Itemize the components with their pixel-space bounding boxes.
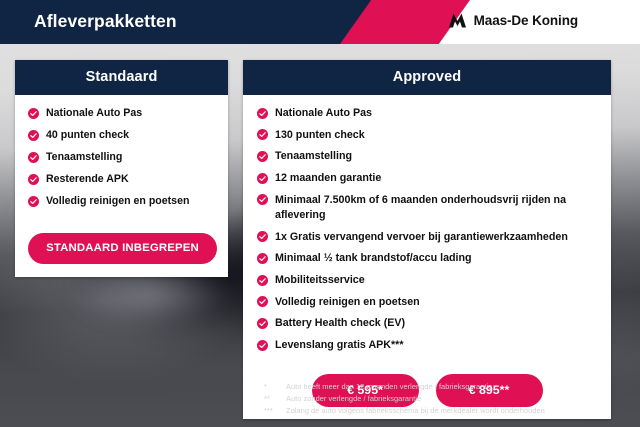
afleverpakketten-page: Afleverpakketten Maas-De Koning Standaar…	[0, 0, 640, 427]
footnotes: *Auto heeft meer dan 12 maanden verlengd…	[264, 381, 624, 417]
feature-label: 12 maanden garantie	[275, 171, 381, 186]
standaard-card-body: Nationale Auto Pas40 punten checkTenaams…	[15, 95, 228, 226]
feature-label: Nationale Auto Pas	[46, 106, 142, 121]
feature-item: 40 punten check	[28, 128, 217, 143]
feature-item: Levenslang gratis APK***	[257, 338, 599, 353]
footnote-text: Zolang de auto volgens fabrieksschema bi…	[286, 405, 624, 417]
standaard-card: Standaard Nationale Auto Pas40 punten ch…	[15, 60, 228, 277]
feature-item: Volledig reinigen en poetsen	[28, 194, 217, 209]
check-circle-icon	[257, 340, 268, 351]
check-circle-icon	[28, 108, 39, 119]
footnote-text: Auto zonder verlengde / fabrieksgarantie	[286, 393, 624, 405]
feature-item: Minimaal ½ tank brandstof/accu lading	[257, 251, 599, 266]
check-circle-icon	[257, 173, 268, 184]
page-title: Afleverpakketten	[34, 11, 177, 32]
feature-item: 12 maanden garantie	[257, 171, 599, 186]
approved-card-body: Nationale Auto Pas130 punten checkTenaam…	[243, 95, 611, 368]
brand-name: Maas-De Koning	[474, 13, 578, 28]
feature-item: Tenaamstelling	[28, 150, 217, 165]
feature-label: Resterende APK	[46, 172, 129, 187]
standaard-card-heading: Standaard	[15, 60, 228, 95]
footnote-text: Auto heeft meer dan 12 maanden verlengde…	[286, 381, 624, 393]
approved-feature-list: Nationale Auto Pas130 punten checkTenaam…	[257, 106, 599, 353]
page-header: Afleverpakketten Maas-De Koning	[0, 0, 640, 44]
feature-label: 40 punten check	[46, 128, 129, 143]
feature-item: Minimaal 7.500km of 6 maanden onderhouds…	[257, 193, 599, 223]
feature-label: Volledig reinigen en poetsen	[46, 194, 189, 209]
standaard-feature-list: Nationale Auto Pas40 punten checkTenaams…	[28, 106, 217, 209]
approved-card: Approved Nationale Auto Pas130 punten ch…	[243, 60, 611, 419]
check-circle-icon	[257, 296, 268, 307]
check-circle-icon	[257, 318, 268, 329]
feature-label: Battery Health check (EV)	[275, 316, 405, 331]
feature-label: 1x Gratis vervangend vervoer bij garanti…	[275, 230, 568, 245]
feature-label: Mobiliteitsservice	[275, 273, 365, 288]
footnote-row: *Auto heeft meer dan 12 maanden verlengd…	[264, 381, 624, 393]
check-circle-icon	[257, 231, 268, 242]
check-circle-icon	[257, 194, 268, 205]
footnote-row: **Auto zonder verlengde / fabrieksgarant…	[264, 393, 624, 405]
feature-label: Nationale Auto Pas	[275, 106, 372, 121]
check-circle-icon	[28, 174, 39, 185]
footnote-marker: ***	[264, 405, 286, 417]
footnote-marker: **	[264, 393, 286, 405]
feature-item: Battery Health check (EV)	[257, 316, 599, 331]
feature-label: Tenaamstelling	[275, 149, 352, 164]
approved-card-heading: Approved	[243, 60, 611, 95]
check-circle-icon	[28, 196, 39, 207]
feature-label: Minimaal 7.500km of 6 maanden onderhouds…	[275, 193, 599, 223]
maas-de-koning-logo-icon	[448, 12, 467, 29]
feature-label: Tenaamstelling	[46, 150, 122, 165]
feature-item: 130 punten check	[257, 128, 599, 143]
feature-item: Mobiliteitsservice	[257, 273, 599, 288]
check-circle-icon	[257, 275, 268, 286]
feature-label: 130 punten check	[275, 128, 365, 143]
feature-item: 1x Gratis vervangend vervoer bij garanti…	[257, 230, 599, 245]
check-circle-icon	[257, 253, 268, 264]
check-circle-icon	[257, 108, 268, 119]
check-circle-icon	[28, 152, 39, 163]
check-circle-icon	[257, 129, 268, 140]
standaard-button-area: STANDAARD INBEGREPEN	[15, 226, 228, 277]
footnote-marker: *	[264, 381, 286, 393]
brand-logo: Maas-De Koning	[448, 12, 578, 29]
feature-label: Levenslang gratis APK***	[275, 338, 404, 353]
check-circle-icon	[257, 151, 268, 162]
feature-item: Nationale Auto Pas	[28, 106, 217, 121]
footnote-row: ***Zolang de auto volgens fabrieksschema…	[264, 405, 624, 417]
check-circle-icon	[28, 130, 39, 141]
feature-item: Nationale Auto Pas	[257, 106, 599, 121]
feature-item: Tenaamstelling	[257, 149, 599, 164]
feature-label: Minimaal ½ tank brandstof/accu lading	[275, 251, 472, 266]
feature-item: Resterende APK	[28, 172, 217, 187]
feature-item: Volledig reinigen en poetsen	[257, 295, 599, 310]
standaard-inbegrepen-button[interactable]: STANDAARD INBEGREPEN	[28, 233, 217, 264]
feature-label: Volledig reinigen en poetsen	[275, 295, 420, 310]
